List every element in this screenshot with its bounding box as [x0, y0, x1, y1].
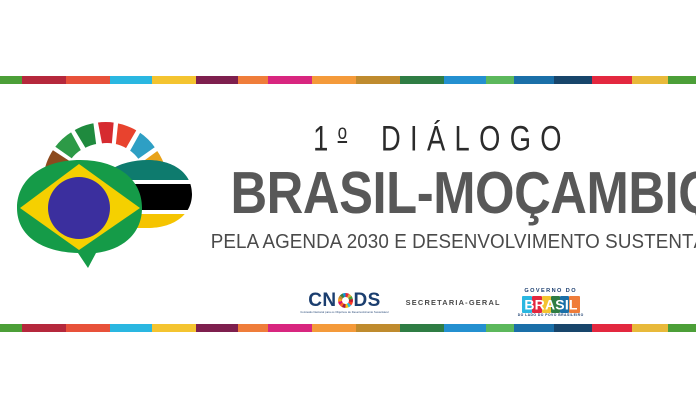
- eyebrow-spacer: [347, 119, 381, 158]
- eyebrow-ordinal: o: [338, 119, 347, 144]
- strip-segment: [400, 76, 444, 84]
- sdg-color-strip-top: [0, 76, 696, 84]
- governo-do-brasil-logo: GOVERNO DO BRASIL DO LADO DO POVO BRASIL…: [518, 289, 584, 317]
- sdg-ring-icon: [338, 293, 353, 308]
- strip-segment: [66, 324, 110, 332]
- eyebrow-number: 1: [313, 119, 338, 158]
- cnods-logo: CN DS Comissão Nacional para os Objetivo…: [300, 291, 388, 315]
- strip-segment: [196, 76, 238, 84]
- page-title: BRASIL-MOÇAMBIQUE: [230, 163, 653, 223]
- strip-segment: [668, 76, 696, 84]
- strip-segment: [152, 324, 196, 332]
- strip-segment: [356, 324, 400, 332]
- strip-segment: [356, 76, 400, 84]
- footer-logo-row: CN DS Comissão Nacional para os Objetivo…: [196, 286, 688, 320]
- strip-segment: [668, 324, 696, 332]
- strip-segment: [110, 324, 152, 332]
- strip-segment: [514, 76, 554, 84]
- strip-segment: [632, 324, 668, 332]
- cnods-tagline: Comissão Nacional para os Objetivos de D…: [300, 311, 388, 315]
- eyebrow-word: DIÁLOGO: [381, 119, 571, 158]
- strip-segment: [152, 76, 196, 84]
- governo-bottom-line: DO LADO DO POVO BRASILEIRO: [518, 314, 584, 317]
- subtitle: PELA AGENDA 2030 E DESENVOLVIMENTO SUSTE…: [211, 230, 673, 254]
- strip-segment: [486, 324, 514, 332]
- strip-segment: [22, 76, 66, 84]
- headline-block: 1o DIÁLOGO BRASIL-MOÇAMBIQUE PELA AGENDA…: [196, 110, 688, 254]
- governo-top-line: GOVERNO DO: [524, 289, 577, 295]
- strip-segment: [554, 324, 592, 332]
- strip-segment: [0, 324, 22, 332]
- strip-segment: [444, 324, 486, 332]
- event-banner: 1o DIÁLOGO BRASIL-MOÇAMBIQUE PELA AGENDA…: [0, 0, 696, 417]
- strip-segment: [486, 76, 514, 84]
- secretaria-geral-label: SECRETARIA-GERAL: [406, 298, 501, 308]
- strip-segment: [0, 76, 22, 84]
- svg-text:BRASIL: BRASIL: [524, 296, 578, 312]
- cnods-text-left: CN: [308, 291, 336, 310]
- strip-segment: [196, 324, 238, 332]
- dialogo-brasil-mocambique-logo: [12, 100, 202, 282]
- strip-segment: [66, 76, 110, 84]
- strip-segment: [312, 324, 356, 332]
- strip-segment: [632, 76, 668, 84]
- strip-segment: [444, 76, 486, 84]
- strip-segment: [592, 324, 632, 332]
- strip-segment: [400, 324, 444, 332]
- strip-segment: [110, 76, 152, 84]
- sdg-color-strip-bottom: [0, 324, 696, 332]
- strip-segment: [268, 76, 312, 84]
- cnods-wordmark: CN DS: [308, 291, 380, 310]
- strip-segment: [514, 324, 554, 332]
- eyebrow-line: 1o DIÁLOGO: [250, 110, 634, 161]
- strip-segment: [238, 324, 268, 332]
- strip-segment: [312, 76, 356, 84]
- strip-segment: [554, 76, 592, 84]
- cnods-text-right: DS: [354, 291, 381, 310]
- strip-segment: [268, 324, 312, 332]
- strip-segment: [22, 324, 66, 332]
- brasil-wordmark: BRASIL: [522, 296, 580, 313]
- strip-segment: [238, 76, 268, 84]
- strip-segment: [592, 76, 632, 84]
